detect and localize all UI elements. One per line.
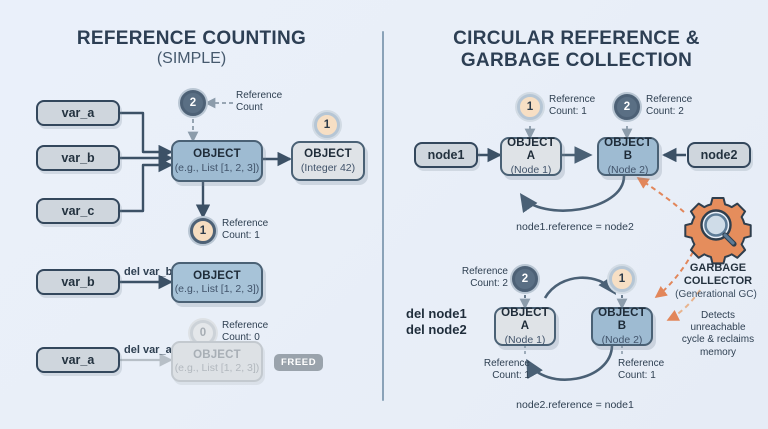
variable-label: var_b <box>61 151 94 165</box>
object-subtitle: (Node 2) <box>608 164 649 176</box>
variable-box-node1[interactable]: node1 <box>414 142 478 168</box>
variable-box-var-b[interactable]: var_b <box>36 145 120 171</box>
ref-count-badge-a-bottom: 2 <box>512 266 538 292</box>
variable-label: node1 <box>428 148 465 162</box>
variable-label: var_a <box>62 106 95 120</box>
ref-count-badge-step2-label: Reference Count: 1 <box>222 218 298 242</box>
ref-count-badge-b-top-label: Reference Count: 2 <box>646 94 718 118</box>
ref-count-badge-b-bottom: 1 <box>609 266 635 292</box>
right-panel-title-line1: CIRCULAR REFERENCE & <box>385 28 768 49</box>
garbage-collector-icon-wrap <box>682 195 756 265</box>
object-box-a-top[interactable]: OBJECT A (Node 1) <box>500 137 562 176</box>
garbage-collector-note: Detects unreachable cycle & reclaims mem… <box>672 310 764 359</box>
ref-count-under-b-label: Reference Count: 1 <box>618 358 684 382</box>
diagram-canvas: REFERENCE COUNTING (SIMPLE) 2 Reference … <box>0 0 768 429</box>
object-box-main[interactable]: OBJECT (e.g., List [1, 2, 3]) <box>171 140 263 182</box>
variable-label: var_a <box>62 353 95 367</box>
object-subtitle: (e.g., List [1, 2, 3]) <box>175 362 260 374</box>
object-title: OBJECT <box>193 148 241 162</box>
left-panel-title: REFERENCE COUNTING <box>0 28 383 49</box>
object-subtitle: (Node 2) <box>602 334 643 346</box>
variable-box-var-a[interactable]: var_a <box>36 100 120 126</box>
object-title: OBJECT B <box>599 137 657 164</box>
left-panel-subtitle: (SIMPLE) <box>0 50 383 68</box>
right-panel-title-line2: GARBAGE COLLECTION <box>385 50 768 71</box>
object-box-step3-freed[interactable]: OBJECT (e.g., List [1, 2, 3]) <box>171 341 263 382</box>
ref-count-badge-a-top-label: Reference Count: 1 <box>549 94 621 118</box>
variable-label: node2 <box>701 148 738 162</box>
object-box-a-bottom[interactable]: OBJECT A (Node 1) <box>494 307 556 346</box>
object-title: OBJECT A <box>496 307 554 334</box>
variable-box-node2[interactable]: node2 <box>687 142 751 168</box>
object-title: OBJECT B <box>593 307 651 334</box>
variable-box-var-b-step2[interactable]: var_b <box>36 269 120 295</box>
garbage-collector-subcaption: (Generational GC) <box>664 289 768 300</box>
object-title: OBJECT <box>193 349 241 363</box>
object-title: OBJECT A <box>502 137 560 164</box>
object-subtitle: (e.g., List [1, 2, 3]) <box>175 162 260 174</box>
object-box-step2[interactable]: OBJECT (e.g., List [1, 2, 3]) <box>171 262 263 303</box>
ref-count-badge-step2: 1 <box>190 218 216 244</box>
object-box-integer[interactable]: OBJECT (Integer 42) <box>291 141 365 181</box>
variable-box-var-c[interactable]: var_c <box>36 198 120 224</box>
object-subtitle: (e.g., List [1, 2, 3]) <box>175 283 260 295</box>
object-box-b-top[interactable]: OBJECT B (Node 2) <box>597 137 659 176</box>
ref-count-badge-integer: 1 <box>314 112 340 138</box>
object-box-b-bottom[interactable]: OBJECT B (Node 2) <box>591 307 653 346</box>
variable-label: var_b <box>61 275 94 289</box>
freed-badge: FREED <box>274 354 323 371</box>
cycle-label-bottom: node2.reference = node1 <box>495 399 655 412</box>
object-subtitle: (Node 1) <box>505 334 546 346</box>
ref-count-badge-b-top: 2 <box>614 94 640 120</box>
object-subtitle: (Integer 42) <box>301 162 355 174</box>
gear-magnifier-icon <box>682 195 756 265</box>
ref-count-badge-a-top: 1 <box>517 94 543 120</box>
object-title: OBJECT <box>193 270 241 284</box>
ref-count-badge-a-bottom-label: Reference Count: 2 <box>440 266 508 290</box>
variable-box-var-a-step3[interactable]: var_a <box>36 347 120 373</box>
object-subtitle: (Node 1) <box>511 164 552 176</box>
ref-count-badge-top: 2 <box>180 90 206 116</box>
ref-count-under-a-label: Reference Count: 1 <box>468 358 530 382</box>
garbage-collector-caption: GARBAGE COLLECTOR <box>668 262 768 288</box>
cycle-label-top: node1.reference = node2 <box>495 221 655 234</box>
object-title: OBJECT <box>304 148 352 162</box>
ref-count-badge-top-label: Reference Count <box>236 90 306 114</box>
del-nodes-label: del node1 del node2 <box>406 306 492 339</box>
variable-label: var_c <box>62 204 95 218</box>
